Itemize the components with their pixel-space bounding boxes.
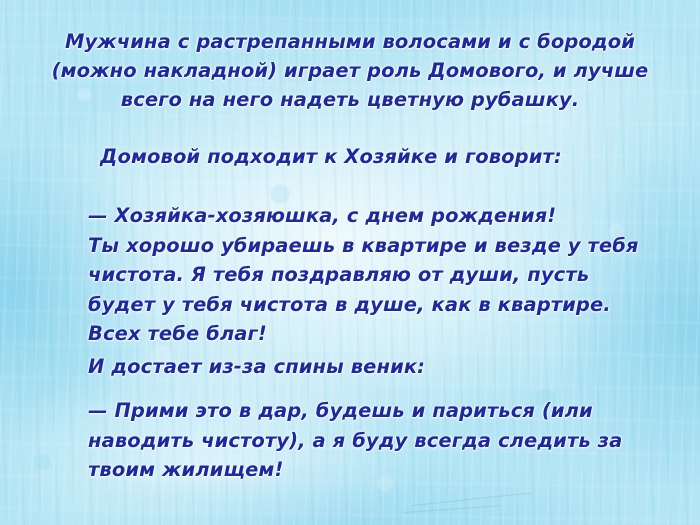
paragraph-line: Ты хорошо убираешь в квартире и везде у … bbox=[88, 231, 639, 261]
paragraph-line: Всех тебе благ! bbox=[88, 319, 639, 349]
paragraph-line: И достает из-за спины веник: bbox=[88, 352, 425, 382]
headline-line: всего на него надеть цветную рубашку. bbox=[0, 85, 700, 114]
paragraph-gift: — Прими это в дар, будешь и париться (ил… bbox=[88, 396, 622, 485]
paragraph-line: — Хозяйка-хозяюшка, с днем рождения! bbox=[88, 201, 639, 231]
greeting-card: Мужчина с растрепанными волосами и с бор… bbox=[0, 0, 700, 525]
paragraph-line: чистота. Я тебя поздравляю от души, пуст… bbox=[88, 260, 639, 290]
pencil-scratch-icon bbox=[412, 492, 531, 506]
paragraph-greeting: — Хозяйка-хозяюшка, с днем рождения! Ты … bbox=[88, 201, 639, 349]
headline-line: Мужчина с растрепанными волосами и с бор… bbox=[0, 27, 700, 56]
paragraph-line: будет у тебя чистота в душе, как в кварт… bbox=[88, 290, 639, 320]
paragraph-line: Домовой подходит к Хозяйке и говорит: bbox=[100, 142, 562, 172]
paragraph-broom: И достает из-за спины веник: bbox=[88, 352, 425, 382]
headline-line: (можно накладной) играет роль Домового, … bbox=[0, 56, 700, 85]
paragraph-line: — Прими это в дар, будешь и париться (ил… bbox=[88, 396, 622, 426]
paragraph-line: твоим жилищем! bbox=[88, 455, 622, 485]
pencil-scratch-icon bbox=[404, 505, 500, 513]
paragraph-line: наводить чистоту), а я буду всегда следи… bbox=[88, 426, 622, 456]
paragraph-approach: Домовой подходит к Хозяйке и говорит: bbox=[100, 142, 562, 172]
headline-block: Мужчина с растрепанными волосами и с бор… bbox=[0, 27, 700, 114]
